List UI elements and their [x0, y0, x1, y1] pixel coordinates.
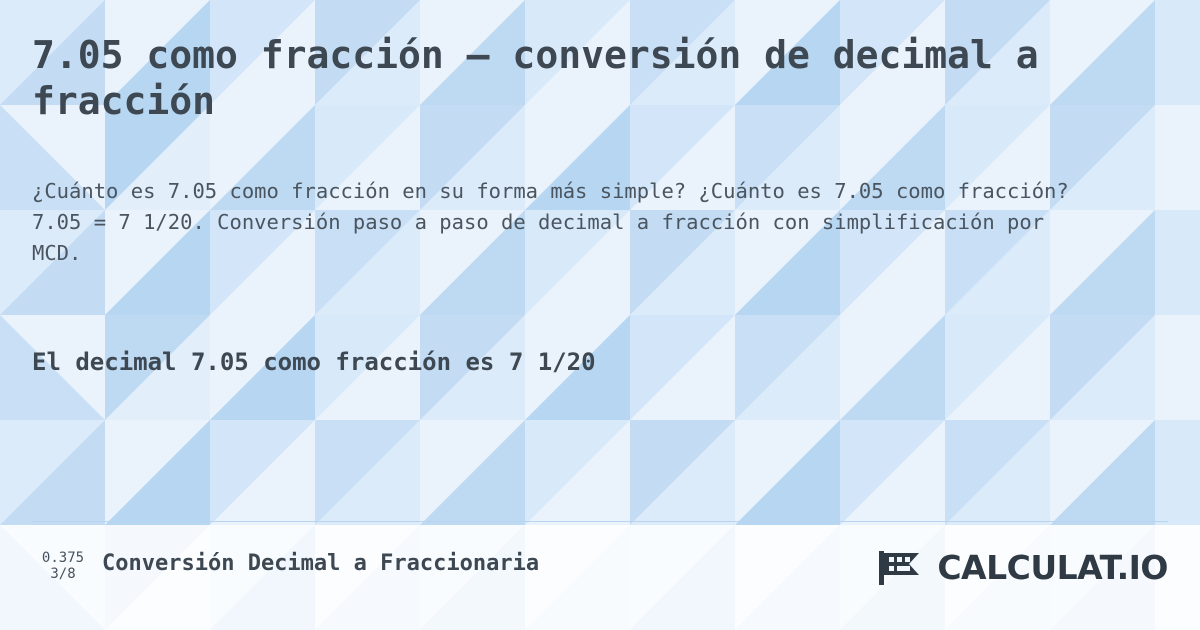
fraction-badge-fraction: 3/8 — [32, 566, 94, 582]
page-description: ¿Cuánto es 7.05 como fracción en su form… — [32, 176, 1097, 269]
footer-divider — [32, 521, 1168, 522]
brand-logo[interactable]: CALCULAT.IO — [875, 545, 1168, 589]
footer: 0.375 3/8 Conversión Decimal a Fracciona… — [32, 545, 1168, 595]
page-title: 7.05 como fracción – conversión de decim… — [32, 32, 1062, 124]
calculator-flag-icon — [875, 547, 929, 587]
fraction-badge: 0.375 3/8 — [32, 550, 94, 582]
brand-wordmark: CALCULAT.IO — [937, 548, 1168, 587]
fraction-badge-decimal: 0.375 — [32, 550, 94, 566]
answer-statement: El decimal 7.05 como fracción es 7 1/20 — [32, 348, 596, 376]
footer-label: Conversión Decimal a Fraccionaria — [102, 551, 539, 576]
og-card: 7.05 como fracción – conversión de decim… — [0, 0, 1200, 630]
